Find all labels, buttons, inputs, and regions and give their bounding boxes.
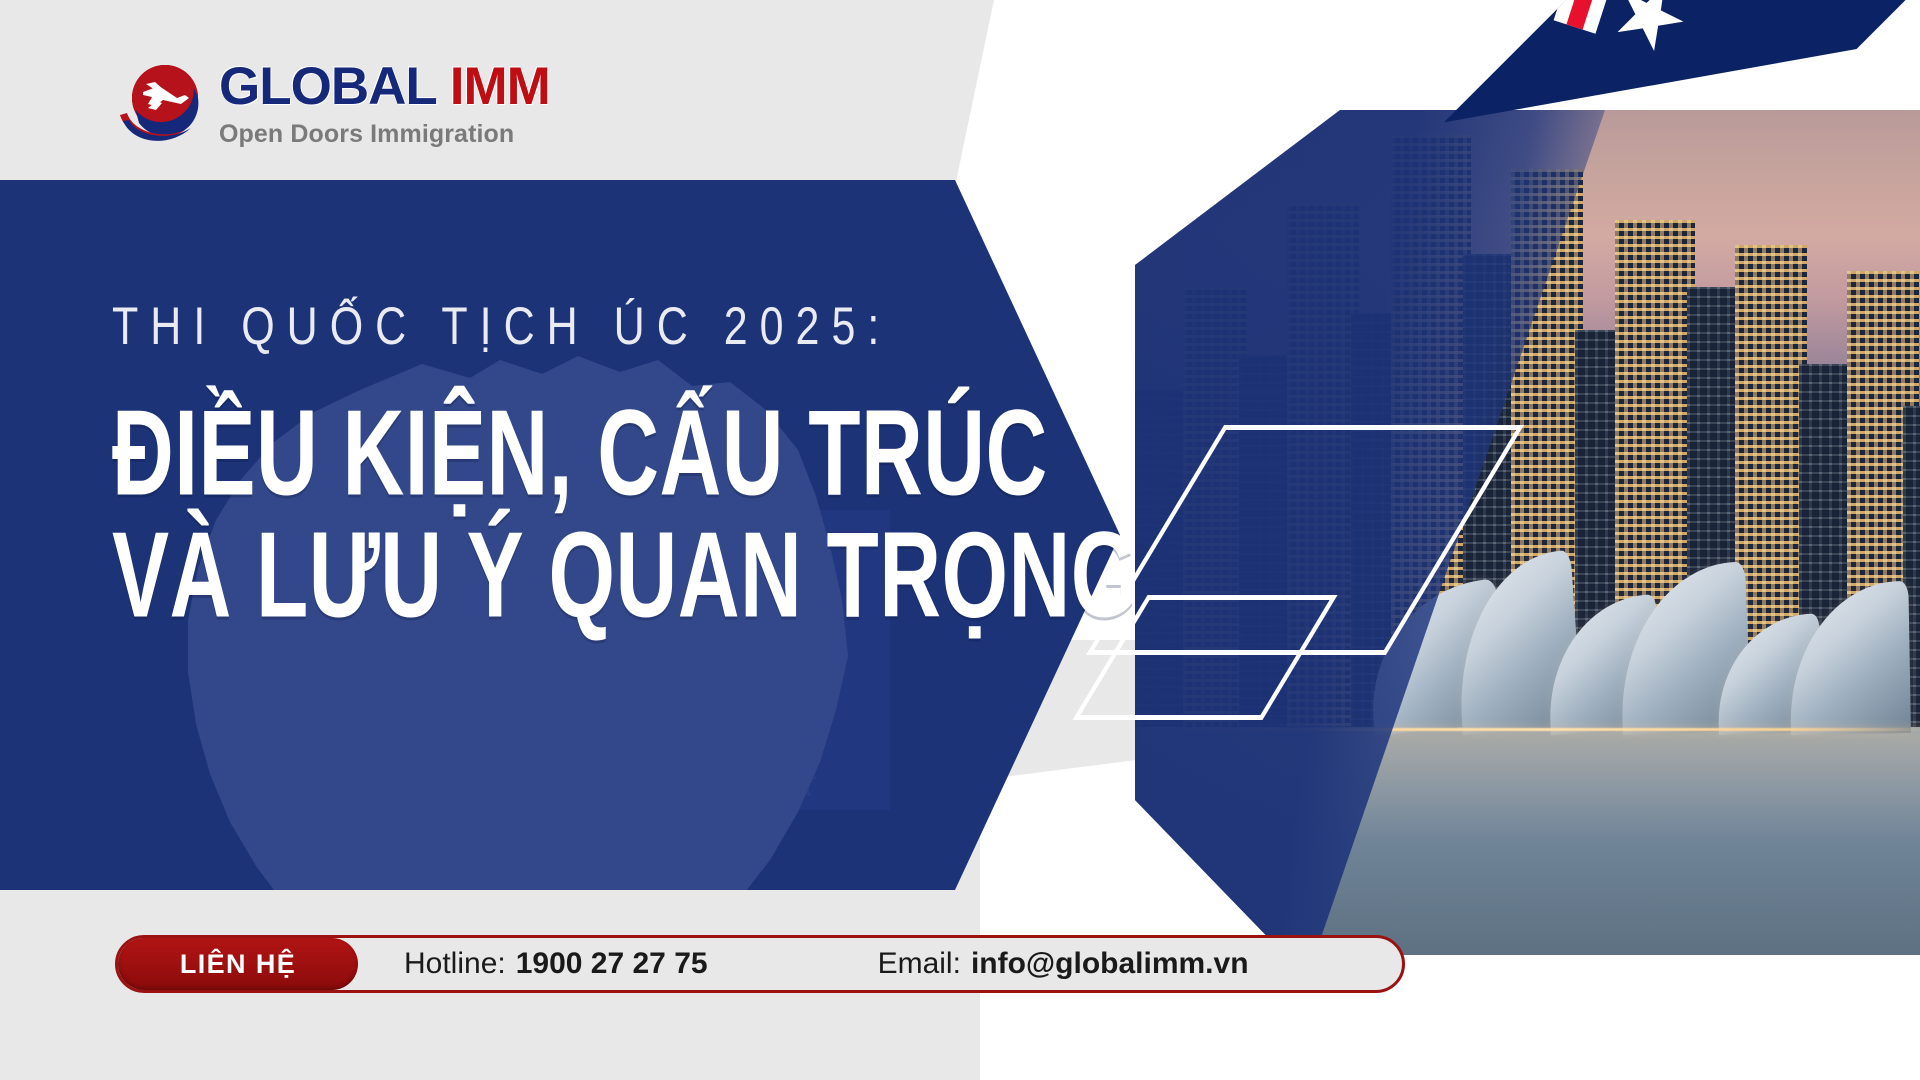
hotline-label: Hotline: [404,947,506,981]
brand-logo[interactable]: GLOBAL IMM Open Doors Immigration [115,58,550,150]
email-label: Email: [878,947,961,981]
globe-airplane-icon [115,58,207,150]
hero-headline-line-1: ĐIỀU KIỆN, CẤU TRÚC [112,393,1042,514]
hero-copy: THI QUỐC TỊCH ÚC 2025: ĐIỀU KIỆN, CẤU TR… [112,300,1112,637]
email-value: info@globalimm.vn [971,947,1249,981]
contact-badge[interactable]: LIÊN HỆ [118,938,358,990]
contact-bar: LIÊN HỆ Hotline: 1900 27 27 75 Email: in… [115,935,1405,993]
logo-primary-text: GLOBAL [219,60,437,113]
logo-tagline: Open Doors Immigration [219,120,550,149]
email-item[interactable]: Email: info@globalimm.vn [878,947,1249,981]
hotline-value: 1900 27 27 75 [516,947,708,981]
hero-headline-line-2: VÀ LƯU Ý QUAN TRỌNG [112,515,1042,636]
hero-headline: ĐIỀU KIỆN, CẤU TRÚC VÀ LƯU Ý QUAN TRỌNG [112,393,1112,607]
hero-kicker: THI QUỐC TỊCH ÚC 2025: [112,300,1112,355]
hotline-item[interactable]: Hotline: 1900 27 27 75 [404,947,708,981]
banner-canvas: THI QUỐC TỊCH ÚC 2025: ĐIỀU KIỆN, CẤU TR… [0,0,1920,1080]
logo-secondary-text: IMM [450,60,550,113]
brand-logo-text: GLOBAL IMM Open Doors Immigration [219,60,550,149]
